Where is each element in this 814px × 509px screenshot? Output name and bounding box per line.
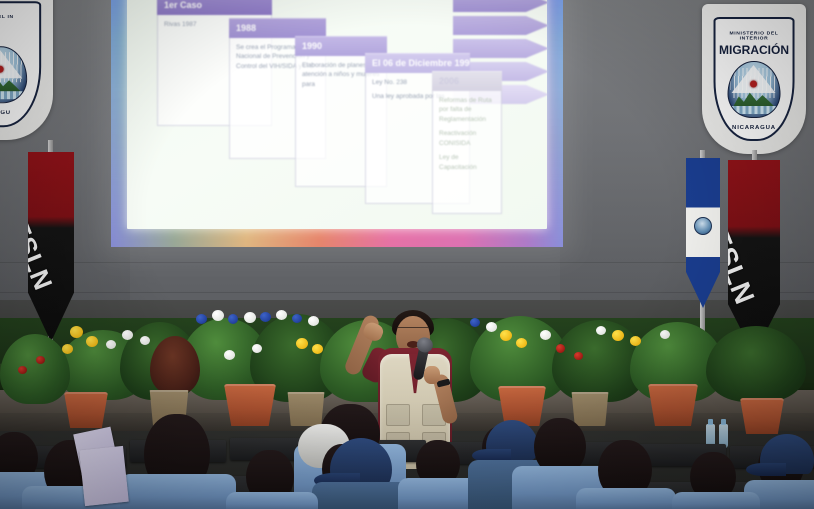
chevron-banner-1 bbox=[453, 0, 547, 12]
flower bbox=[106, 340, 116, 349]
flower bbox=[70, 326, 83, 338]
emblem-plaque-left: O DEL IN RAGU bbox=[0, 0, 53, 140]
flower bbox=[36, 356, 45, 364]
plaque-bottom-text: RAGU bbox=[0, 111, 39, 116]
water-icon bbox=[731, 106, 777, 114]
flower bbox=[252, 344, 262, 353]
mic-hand bbox=[424, 366, 440, 384]
water-icon bbox=[0, 92, 24, 100]
emblem-plaque-right: MINISTERIO DEL INTERIOR MIGRACIÓN NICARA… bbox=[702, 4, 806, 154]
flower-pot bbox=[648, 384, 698, 426]
timeline-text: Ley de Capacitación bbox=[439, 153, 495, 172]
timeline-box-1-header: 1er Caso bbox=[157, 0, 272, 15]
flower bbox=[308, 316, 319, 326]
nicaragua-arms-icon bbox=[694, 217, 712, 235]
flower bbox=[574, 352, 583, 360]
coat-of-arms-icon bbox=[0, 46, 27, 104]
audience-body bbox=[672, 492, 760, 509]
triangle-icon bbox=[732, 65, 776, 93]
flower bbox=[596, 326, 606, 335]
chevron-banner-2 bbox=[453, 16, 547, 35]
audience-body bbox=[576, 488, 676, 509]
flower bbox=[540, 330, 551, 340]
flower bbox=[196, 314, 207, 324]
projection-screen: 1er Caso Rivas 1987 1988 Se crea el Prog… bbox=[111, 0, 563, 247]
flower bbox=[500, 330, 512, 341]
timeline-box-4-header: El 06 de Diciembre 1996 bbox=[365, 53, 470, 73]
screenshot-root: O DEL IN RAGU MINISTERIO DEL INTERIOR MI… bbox=[0, 0, 814, 509]
flower-pot bbox=[224, 384, 276, 426]
plaque-ring-text: O DEL IN bbox=[0, 15, 39, 20]
audience-body bbox=[226, 492, 318, 509]
presentation-slide: 1er Caso Rivas 1987 1988 Se crea el Prog… bbox=[127, 0, 547, 229]
flower bbox=[224, 350, 235, 360]
flower bbox=[228, 314, 238, 324]
flower-pot bbox=[286, 392, 326, 426]
flower bbox=[660, 330, 670, 339]
flower-pot bbox=[64, 392, 108, 428]
vest-pocket bbox=[386, 404, 410, 426]
flower bbox=[556, 344, 565, 353]
timeline-text: Reformas de Ruta por falta de Reglamenta… bbox=[439, 96, 495, 124]
flower bbox=[260, 312, 271, 322]
flower bbox=[62, 344, 73, 354]
flower bbox=[140, 336, 150, 345]
flower bbox=[212, 310, 224, 321]
flower-pot bbox=[740, 398, 784, 434]
timeline-box-5: 2006 Reformas de Ruta por falta de Regla… bbox=[432, 71, 502, 214]
flower bbox=[18, 366, 27, 374]
timeline-box-5-header: 2006 bbox=[432, 71, 502, 91]
plaque-bottom-text: NICARAGUA bbox=[716, 125, 793, 130]
plaque-title: MIGRACIÓN bbox=[716, 43, 793, 57]
flower bbox=[122, 330, 133, 340]
timeline-box-2-header: 1988 bbox=[229, 18, 326, 38]
flower bbox=[276, 310, 287, 320]
slide-content: 1er Caso Rivas 1987 1988 Se crea el Prog… bbox=[127, 0, 547, 229]
flower bbox=[244, 312, 256, 323]
flower bbox=[612, 330, 624, 341]
handout-paper bbox=[79, 446, 129, 506]
flower bbox=[486, 322, 497, 332]
triangle-icon bbox=[0, 50, 23, 78]
fist-icon bbox=[361, 320, 385, 343]
red-dot-icon bbox=[750, 81, 757, 88]
audience-body bbox=[120, 474, 236, 509]
glasses-icon bbox=[398, 327, 428, 334]
shield-icon: O DEL IN RAGU bbox=[0, 1, 41, 127]
timeline-text: Reactivación CONISIDA bbox=[439, 129, 495, 148]
shield-icon: MINISTERIO DEL INTERIOR MIGRACIÓN NICARA… bbox=[714, 17, 795, 141]
flower bbox=[630, 336, 641, 346]
flower bbox=[516, 338, 527, 348]
plaque-ring-text: MINISTERIO DEL INTERIOR bbox=[716, 31, 793, 41]
timeline-box-5-body: Reformas de Ruta por falta de Reglamenta… bbox=[432, 91, 502, 214]
flower bbox=[86, 336, 98, 347]
coat-of-arms-icon bbox=[728, 61, 780, 118]
audience-body bbox=[312, 482, 412, 509]
flower bbox=[296, 338, 308, 349]
flower-pot bbox=[570, 392, 610, 426]
flower bbox=[312, 344, 323, 354]
flower bbox=[292, 314, 302, 323]
